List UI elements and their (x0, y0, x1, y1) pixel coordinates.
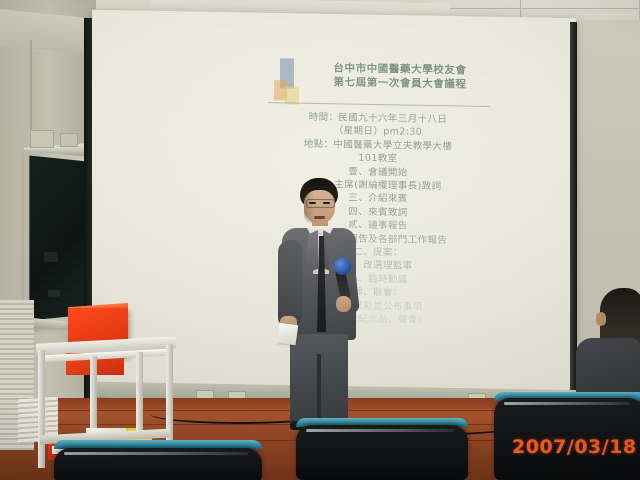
slide-title-line-2: 第七屆第一次會員大會議程 (304, 75, 496, 92)
paper-notes (277, 323, 299, 345)
ceiling-seam (430, 8, 640, 9)
microphone-icon (334, 258, 351, 275)
slide-decoration-icon (274, 58, 300, 104)
camera-timestamp: 2007/03/18 (512, 436, 637, 458)
presentation-photo: 台中市中國醫藥大學校友會 第七屆第一次會員大會議程 時間：民國九十六年三月十八日… (0, 0, 640, 480)
eye-right (323, 202, 330, 204)
slide-divider (268, 102, 490, 107)
blackboard-surface (29, 156, 92, 321)
mouth (314, 216, 325, 219)
hand-right (336, 296, 351, 312)
trouser-crease (317, 354, 321, 426)
arm-left (278, 240, 302, 326)
seated-attendee-ear (596, 312, 606, 326)
wall-switch-plate (60, 133, 78, 147)
blackboard-clip (44, 252, 58, 262)
speaker-person (276, 178, 362, 428)
chair-highlight (64, 452, 248, 455)
auditorium-seat[interactable] (296, 425, 468, 480)
eye-left (309, 202, 316, 204)
chair-highlight (306, 429, 454, 432)
chair-highlight (504, 402, 630, 405)
blackboard-clip (48, 290, 60, 297)
slide-title: 台中市中國醫藥大學校友會 第七屆第一次會員大會議程 (304, 61, 496, 92)
wall-outlet-plate (30, 130, 54, 148)
cart-leg (38, 350, 45, 468)
